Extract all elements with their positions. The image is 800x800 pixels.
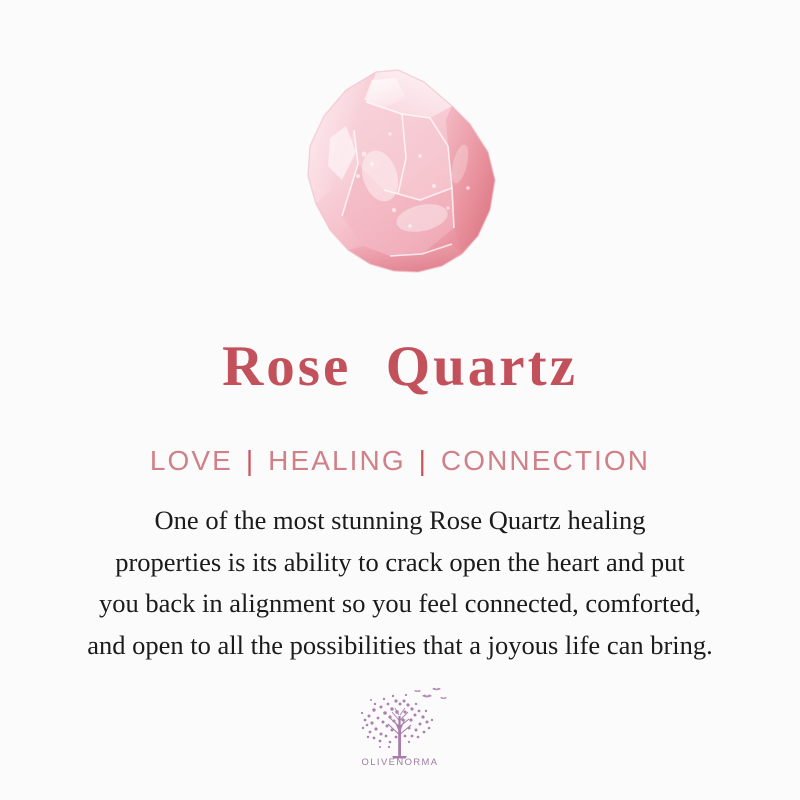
product-image-area — [0, 0, 800, 310]
rose-quartz-illustration — [302, 68, 500, 276]
brand-wordmark: OLIVENORMA — [340, 756, 460, 767]
description-paragraph: One of the most stunning Rose Quartz hea… — [34, 500, 766, 666]
description-line: One of the most stunning Rose Quartz hea… — [34, 500, 766, 542]
tagline-item-love: LOVE — [150, 445, 233, 476]
brand-logo: OLIVENORMA — [340, 682, 460, 782]
tagline: LOVE | HEALING | CONNECTION — [0, 444, 800, 478]
rose-quartz-raw-stone-icon — [302, 68, 500, 276]
page-title: Rose Quartz — [0, 336, 800, 398]
tagline-separator-1: | — [243, 445, 258, 476]
tree-of-life-icon — [340, 682, 460, 760]
poster-canvas: Rose Quartz LOVE | HEALING | CONNECTION … — [0, 0, 800, 800]
tagline-item-healing: HEALING — [268, 445, 406, 476]
tree-foliage — [361, 694, 433, 748]
description-line: you back in alignment so you feel connec… — [34, 583, 766, 625]
birds-icon — [414, 688, 447, 699]
tagline-separator-2: | — [416, 445, 431, 476]
description-line: properties is its ability to crack open … — [34, 542, 766, 584]
tree-trunk — [388, 708, 411, 759]
description-line: and open to all the possibilities that a… — [34, 625, 766, 667]
tagline-item-connection: CONNECTION — [441, 445, 650, 476]
